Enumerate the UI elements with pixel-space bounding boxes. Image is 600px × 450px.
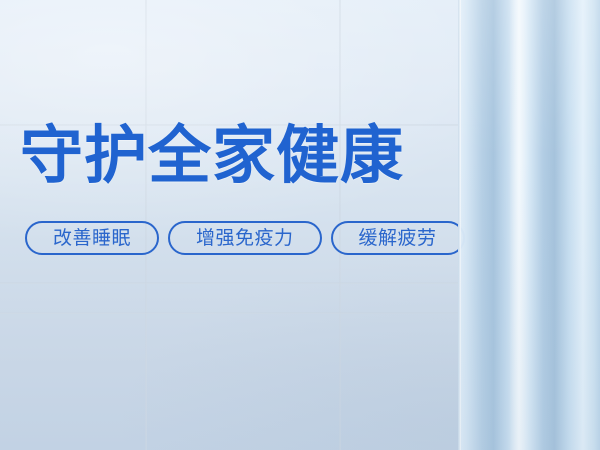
glass-column-shade (458, 0, 600, 450)
benefit-pill-row: 改善睡眠 增强免疫力 缓解疲劳 (25, 221, 465, 255)
promo-banner: 守护全家健康 改善睡眠 增强免疫力 缓解疲劳 (0, 0, 600, 450)
page-title: 守护全家健康 (20, 121, 404, 191)
benefit-pill-sleep[interactable]: 改善睡眠 (25, 221, 159, 255)
benefit-pill-fatigue[interactable]: 缓解疲劳 (331, 221, 465, 255)
benefit-pill-immunity[interactable]: 增强免疫力 (168, 221, 322, 255)
glass-column-decoration (458, 0, 600, 450)
